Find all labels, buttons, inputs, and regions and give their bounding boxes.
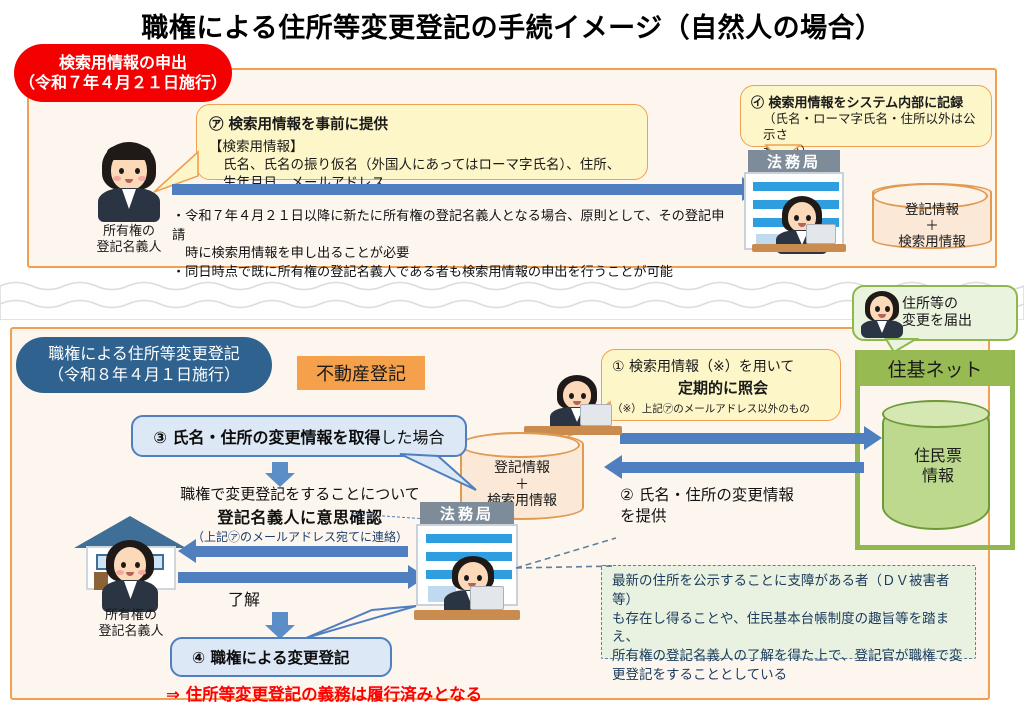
label-consent: 了解: [228, 586, 260, 610]
datastore-top-labels: 登記情報 ＋ 検索用情報: [874, 203, 990, 251]
confirm-intent-text: 職権で変更登記をすることについて 登記名義人に意思確認 （上記㋐のメールアドレス…: [150, 483, 450, 545]
note-dv-victims: 最新の住所を公示することに支障がある者（ＤＶ被害者等） も存在し得ることや、住民…: [601, 565, 976, 659]
arrow-contact-owner: [196, 546, 408, 557]
label-owner-top-line2: 登記名義人: [84, 240, 174, 256]
jukinet-header: 住基ネット: [858, 350, 1012, 386]
datastore-top-line2: ＋: [874, 219, 990, 235]
confirm-line1: 職権で変更登記をすることについて: [150, 483, 450, 504]
callout-record-heading: ㋑ 検索用情報をシステム内部に記録: [751, 92, 983, 111]
badge-search-line2: （令和７年４月２１日施行）: [19, 73, 227, 93]
callout-provide-line1: 【検索用情報】: [209, 138, 637, 156]
datastore-registry-top: 登記情報 ＋ 検索用情報: [872, 183, 992, 249]
badge-search-line1: 検索用情報の申出: [59, 53, 187, 73]
arrow-step1-inquiry: [620, 433, 864, 444]
laptop-top: [806, 224, 836, 244]
label-owner-bottom-line1: 所有権の: [86, 608, 176, 624]
tag-real-estate-registration: 不動産登記: [297, 356, 425, 390]
callout-provide-search-info: ㋐ 検索用情報を事前に提供 【検索用情報】 氏名、氏名の振り仮名（外国人にあって…: [196, 104, 648, 180]
datastore-resident-line1: 住民票: [884, 446, 992, 466]
callout-provide-heading: ㋐ 検索用情報を事前に提供: [209, 113, 637, 134]
arrow-step2-provide: [622, 462, 864, 473]
label-owner-bottom-line2: 登記名義人: [86, 624, 176, 640]
callout-step1-periodic-inquiry: ① 検索用情報（※）を用いて 定期的に照会 （※）上記㋐のメールアドレス以外のも…: [601, 349, 841, 421]
step1-note: （※）上記㋐のメールアドレス以外のもの: [612, 401, 834, 416]
label-owner-bottom: 所有権の 登記名義人: [86, 608, 176, 641]
arrow-step3-down: [272, 462, 288, 474]
label-owner-top: 所有権の 登記名義人: [84, 224, 174, 257]
arrow-provide-to-bureau: [172, 184, 742, 195]
dv-note-connector: [512, 532, 622, 576]
step3-bold: ③ 氏名・住所の変更情報を取得: [153, 424, 380, 448]
step1-line1: ① 検索用情報（※）を用いて: [612, 356, 834, 376]
notify-line1: 住所等の: [902, 296, 972, 314]
datastore-top-line1: 登記情報: [874, 203, 990, 219]
datastore-resident-line2: 情報: [884, 466, 992, 486]
top-note-1b: 時に検索用情報を申し出ることが必要: [172, 245, 732, 264]
label-step2: ② 氏名・住所の変更情報 を提供: [620, 485, 794, 527]
dv-note-line3: 所有権の登記名義人の了解を得た上で、登記官が職権で変: [612, 647, 967, 666]
dv-note-line1: 最新の住所を公示することに支障がある者（ＤＶ被害者等）: [612, 572, 967, 610]
callout-provide-line2: 氏名、氏名の振り仮名（外国人にあってはローマ字氏名）、住所、: [209, 156, 637, 174]
step3-light: した場合: [381, 424, 445, 448]
page-title: 職権による住所等変更登記の手続イメージ（自然人の場合）: [0, 6, 1024, 45]
callout-step3-change-info-obtained: ③ 氏名・住所の変更情報を取得した場合: [131, 415, 467, 457]
step2-line1: ② 氏名・住所の変更情報: [620, 485, 794, 506]
avatar-owner-bottom: [98, 540, 164, 610]
infographic-canvas: 職権による住所等変更登記の手続イメージ（自然人の場合） ㋐ 検索用情報を事前に提…: [0, 0, 1024, 710]
arrow-to-step4: [272, 612, 288, 626]
datastore-top-line3: 検索用情報: [874, 235, 990, 251]
datastore-resident-record: 住民票 情報: [882, 400, 990, 530]
callout-record-line1: （氏名・ローマ字氏名・住所以外は公示さ: [751, 111, 983, 144]
arrow-owner-consent: [178, 572, 408, 583]
top-notes: ・令和７年４月２１日以降に新たに所有権の登記名義人となる場合、原則として、その登…: [172, 208, 732, 283]
callout-record-search-info: ㋑ 検索用情報をシステム内部に記録 （氏名・ローマ字氏名・住所以外は公示さ れな…: [740, 85, 992, 147]
callout-step4-tail: [300, 604, 420, 640]
step2-line2: を提供: [620, 506, 794, 527]
callout-step4-exofficio-change: ④ 職権による変更登記: [170, 637, 392, 677]
badge-ex-officio-registration: 職権による住所等変更登記 （令和８年４月１日施行）: [16, 337, 272, 393]
bureau-sign-top: 法務局: [748, 150, 840, 172]
final-result-text: ⇒ 住所等変更登記の義務は履行済みとなる: [166, 681, 482, 705]
badge-exofficio-line2: （令和８年４月１日施行）: [48, 365, 240, 386]
desk-top: [752, 244, 846, 252]
datastore-resident-labels: 住民票 情報: [884, 446, 992, 486]
step1-line2: 定期的に照会: [612, 377, 834, 398]
label-owner-top-line1: 所有権の: [84, 224, 174, 240]
dv-note-line4: 更登記をすることとしている: [612, 666, 967, 685]
top-note-1: ・令和７年４月２１日以降に新たに所有権の登記名義人となる場合、原則として、その登…: [172, 208, 732, 245]
bureau-sign-bottom: 法務局: [420, 502, 514, 524]
laptop-mid: [580, 404, 612, 426]
laptop-bottom: [470, 586, 504, 610]
avatar-resident: [858, 291, 906, 337]
badge-search-info-application: 検索用情報の申出 （令和７年４月２１日施行）: [14, 44, 232, 102]
avatar-owner-top: [92, 142, 166, 220]
notify-line2: 変更を届出: [902, 313, 972, 331]
badge-exofficio-line1: 職権による住所等変更登記: [48, 344, 240, 365]
dv-note-line2: も存在し得ることや、住民基本台帳制度の趣旨等を踏まえ、: [612, 610, 967, 648]
desk-bottom: [414, 610, 520, 620]
